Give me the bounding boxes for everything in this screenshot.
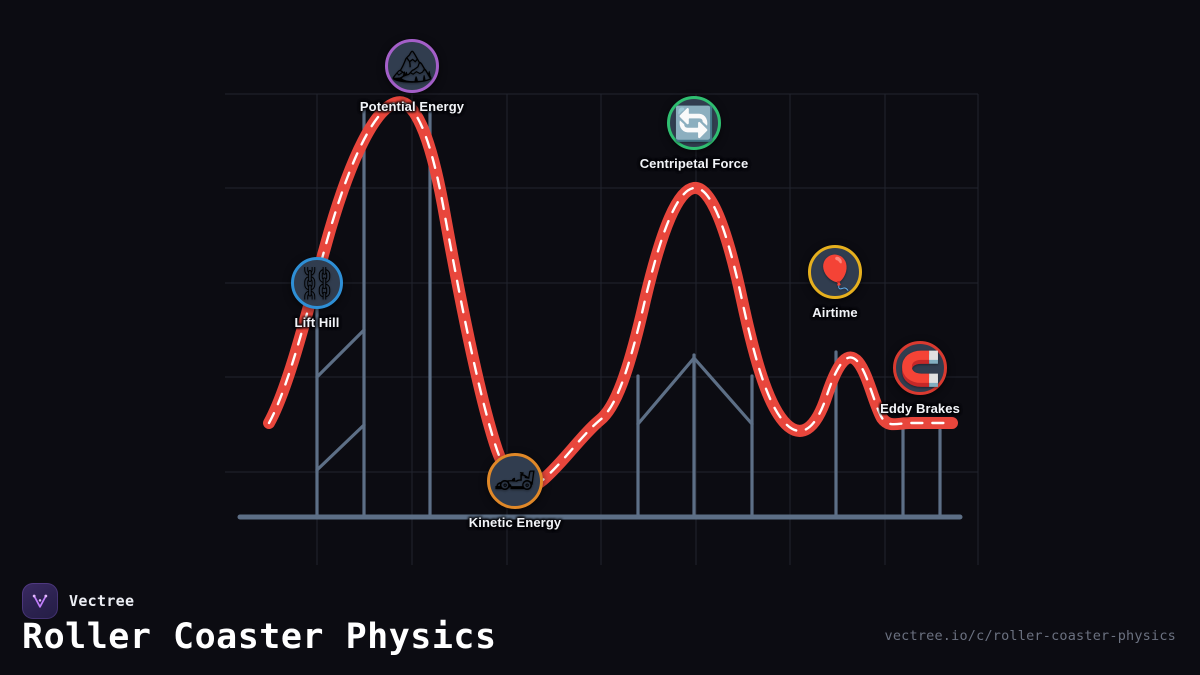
node-circle-lift-hill[interactable]: ⛓: [291, 257, 343, 309]
node-label-potential-energy: Potential Energy: [360, 99, 464, 114]
page-url: vectree.io/c/roller-coaster-physics: [885, 628, 1176, 644]
magnet-icon: 🧲: [899, 352, 940, 385]
node-circle-airtime[interactable]: 🎈: [808, 245, 862, 299]
footer-bar: Vectree Roller Coaster Physics vectree.i…: [0, 565, 1200, 675]
node-label-lift-hill: Lift Hill: [295, 315, 340, 330]
node-circle-potential-energy[interactable]: 🏔: [385, 39, 439, 93]
vectree-logo-icon: [22, 583, 58, 619]
support-beam: [694, 358, 752, 424]
support-beam: [317, 425, 364, 470]
balloon-icon: 🎈: [814, 256, 855, 289]
track-svg: [0, 0, 1200, 565]
node-circle-eddy-brakes[interactable]: 🧲: [893, 341, 947, 395]
node-label-kinetic-energy: Kinetic Energy: [469, 515, 561, 530]
chains-icon: ⛓: [297, 267, 338, 299]
node-label-eddy-brakes: Eddy Brakes: [880, 401, 960, 416]
racing-car-icon: 🏎: [493, 464, 536, 498]
cycle-arrows-icon: 🔄: [673, 107, 714, 140]
node-circle-centripetal-force[interactable]: 🔄: [667, 96, 721, 150]
node-label-centripetal-force: Centripetal Force: [640, 156, 749, 171]
page-title: Roller Coaster Physics: [22, 617, 497, 657]
support-beam: [317, 330, 364, 377]
node-circle-kinetic-energy[interactable]: 🏎: [487, 453, 543, 509]
mountain-icon: 🏔: [391, 50, 433, 83]
support-beam: [638, 358, 694, 424]
node-label-airtime: Airtime: [812, 305, 858, 320]
diagram-canvas: 🏔Potential Energy🔄Centripetal Force⛓Lift…: [0, 0, 1200, 565]
brand-row[interactable]: Vectree: [22, 583, 134, 619]
brand-name: Vectree: [69, 592, 134, 610]
